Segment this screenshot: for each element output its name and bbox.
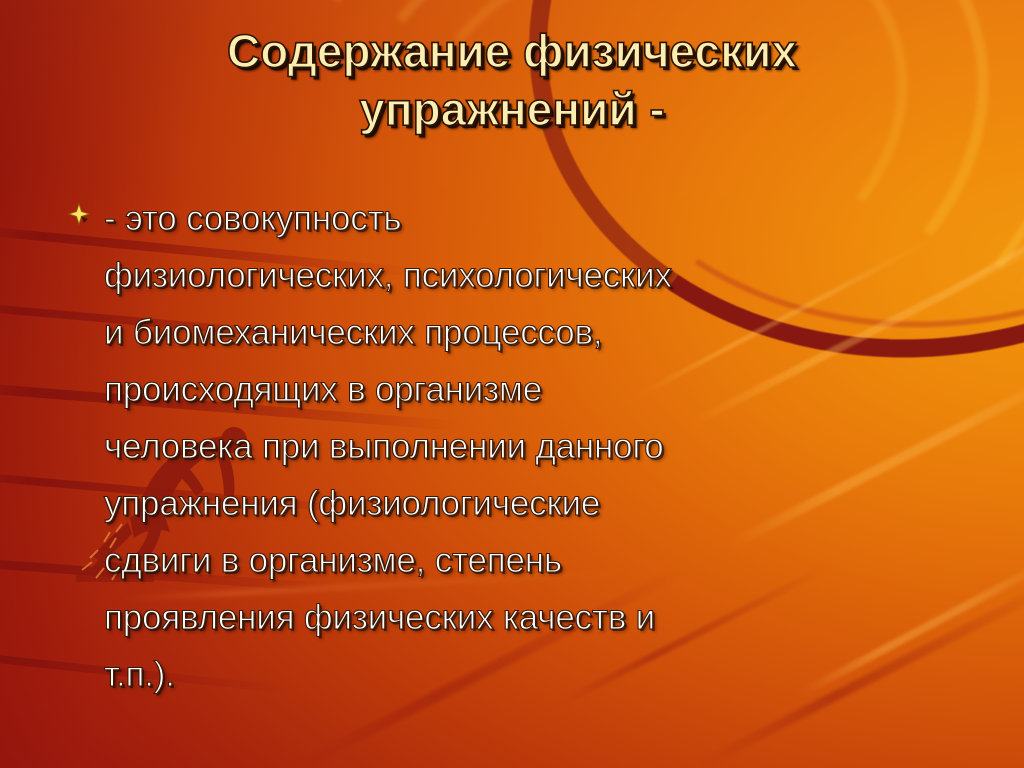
slide-title: Содержание физических упражнений - [0, 22, 1024, 138]
slide-body-text: - это совокупность физиологических, псих… [104, 190, 968, 703]
bullet-row: - это совокупность физиологических, псих… [68, 190, 968, 703]
slide-body: - это совокупность физиологических, псих… [68, 190, 968, 703]
presentation-slide: Содержание физических упражнений - - это… [0, 0, 1024, 768]
gold-diamond-bullet-icon [68, 203, 90, 225]
